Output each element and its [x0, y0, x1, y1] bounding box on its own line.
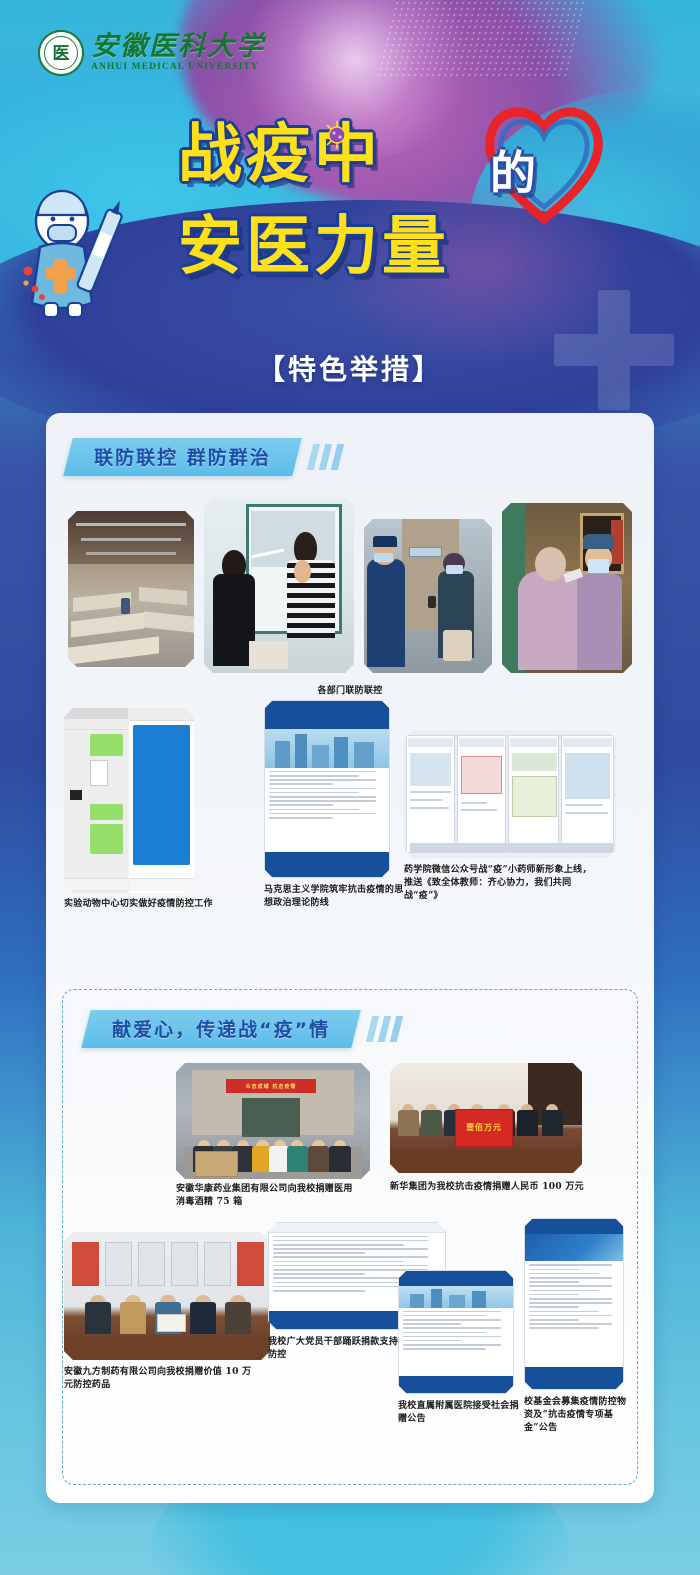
affiliated-hospital-donation-notice: [398, 1270, 514, 1394]
pharmacy-wechat-official-photo: [404, 730, 616, 858]
section-heading-text: 联防联控 群防群治: [94, 443, 271, 470]
dormitory-entry-check-photo: [502, 503, 632, 673]
marxism-school-website-photo: [264, 700, 390, 878]
temperature-check-window-photo: [204, 497, 354, 673]
donation-row-2: 安徽九方制药有限公司向我校捐赠价值 10 万元防控药品 我校广大党员干部踊跃捐款…: [46, 1232, 654, 1462]
section-donation: 献爱心，传递战“疫”情 众志成城 抗击疫情: [46, 1011, 654, 1462]
title-line-2: 安医力量: [178, 195, 450, 287]
photo-row-field-caption: 各部门联防联控: [46, 685, 654, 698]
university-logo: 医 安徽医科大学 ANHUI MEDICAL UNIVERSITY: [38, 30, 265, 76]
donation-banner-text: 众志成城 抗击疫情: [246, 1083, 297, 1090]
photo-row-screens: 实验动物中心切实做好疫情防控工作 马克思主义学院筑牢抗击疫情的思想政治理论防线 …: [46, 708, 654, 938]
section-ribbon: 联防联控 群防群治: [63, 438, 301, 476]
caption-affiliated-hospital: 我校直属附属医院接受社会捐赠公告: [398, 1400, 520, 1426]
section-header-joint-prevention: 联防联控 群防群治: [68, 439, 654, 475]
caption-marxism: 马克思主义学院筑牢抗击疫情的思想政治理论防线: [264, 884, 404, 910]
ribbon-slashes-icon: [310, 444, 341, 470]
seal-character: 医: [53, 45, 70, 62]
caption-jiufang: 安徽九方制药有限公司向我校捐赠价值 10 万元防控药品: [64, 1366, 256, 1392]
caption-lab-animal: 实验动物中心切实做好疫情防控工作: [64, 898, 274, 911]
canteen-distancing-photo: [68, 511, 194, 667]
caption-xinhua: 新华集团为我校抗击疫情捐赠人民币 100 万元: [390, 1181, 590, 1194]
section-heading-text: 献爱心，传递战“疫”情: [112, 1015, 330, 1042]
section-joint-prevention: 联防联控 群防群治: [46, 439, 654, 938]
content-card: 联防联控 群防群治: [46, 413, 654, 1503]
caption-pharmacy: 药学院微信公众号战“疫”小药师新形象上线，推送《致全体教师：齐心协力，我们共同战…: [404, 864, 596, 903]
section-ribbon: 献爱心，传递战“疫”情: [81, 1010, 360, 1048]
ribbon-slashes-icon: [369, 1016, 400, 1042]
mascot-doctor-icon: [18, 185, 128, 325]
poster-root: 医 安徽医科大学 ANHUI MEDICAL UNIVERSITY 战疫中 的 …: [0, 0, 700, 1575]
university-name-cn: 安徽医科大学: [91, 33, 265, 60]
jiufang-pharma-donation-photo: [64, 1232, 270, 1360]
caption-party-members: 我校广大党员干部踊跃捐款支持疫情防控: [268, 1336, 418, 1362]
lab-animal-center-wechat-photo: [64, 708, 194, 893]
caption-huakang: 安徽华康药业集团有限公司向我校捐赠医用消毒酒精 75 箱: [176, 1183, 356, 1209]
dot-grid-decoration: [375, 0, 585, 80]
title-particle: 的: [490, 137, 536, 203]
xinhua-group-donation-photo: 壹佰万元: [390, 1063, 582, 1173]
foundation-fund-notice: [524, 1218, 624, 1390]
university-seal-icon: 医: [38, 30, 84, 76]
caption-foundation: 校基金会募集疫情防控物资及“抗击疫情专项基金”公告: [524, 1396, 634, 1435]
security-gate-check-photo: [364, 519, 492, 673]
virus-icon: [322, 120, 352, 150]
photo-row-field: [46, 489, 654, 679]
university-name-en: ANHUI MEDICAL UNIVERSITY: [91, 63, 265, 73]
section-header-donation: 献爱心，传递战“疫”情: [86, 1011, 654, 1047]
huakang-alcohol-donation-photo: 众志成城 抗击疫情: [176, 1063, 370, 1179]
donation-row-1: 众志成城 抗击疫情 安徽华康药业集团有限公司向我校捐赠医用消毒酒精 75 箱: [46, 1063, 654, 1218]
page-subtitle: 【特色举措】: [0, 348, 700, 388]
cheque-amount-text: 壹佰万元: [466, 1122, 502, 1133]
